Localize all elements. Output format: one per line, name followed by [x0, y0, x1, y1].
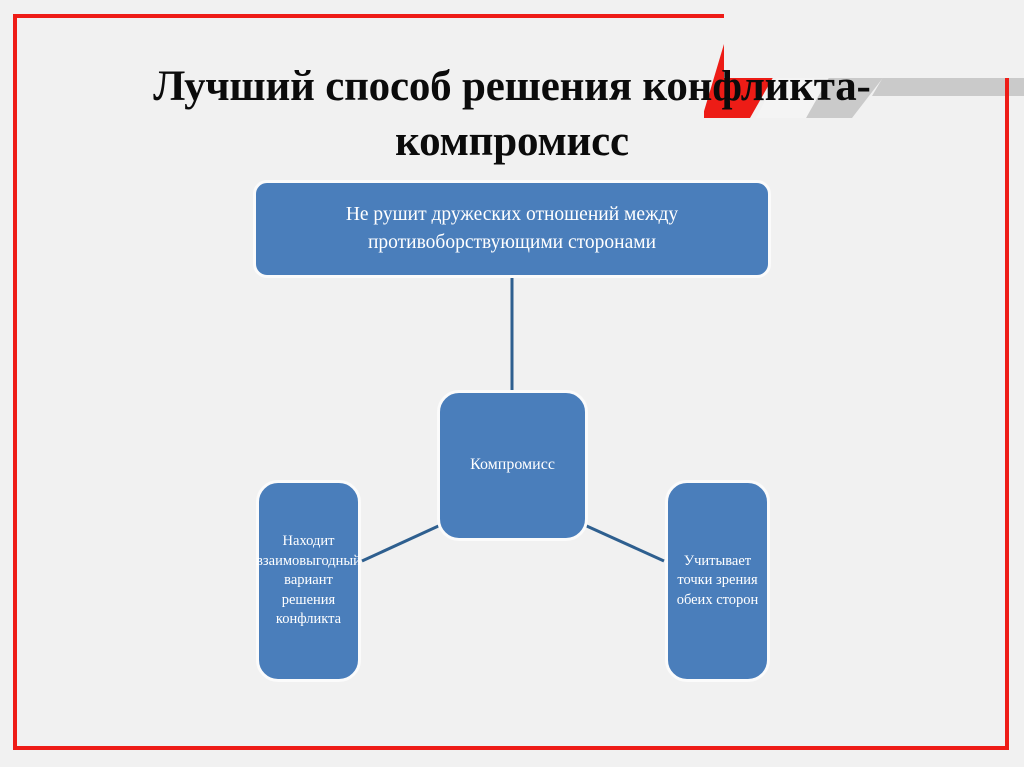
diagram-node-left[interactable]: Находит взаимовыгодный вариант решения к… [256, 480, 361, 682]
diagram-node-right[interactable]: Учитывает точки зрения обеих сторон [665, 480, 770, 682]
diagram-node-center[interactable]: Компромисс [437, 390, 588, 541]
diagram-node-right-label: Учитывает точки зрения обеих сторон [674, 552, 761, 610]
diagram-node-top-label: Не рушит дружеских отношений между проти… [282, 201, 742, 256]
page-title: Лучший способ решения конфликта-компроми… [40, 59, 984, 169]
diagram-node-left-label: Находит взаимовыгодный вариант решения к… [256, 532, 361, 629]
presentation-slide: Лучший способ решения конфликта-компроми… [0, 0, 1024, 767]
diagram-node-top[interactable]: Не рушит дружеских отношений между проти… [253, 180, 771, 278]
diagram-node-center-label: Компромисс [470, 455, 555, 476]
